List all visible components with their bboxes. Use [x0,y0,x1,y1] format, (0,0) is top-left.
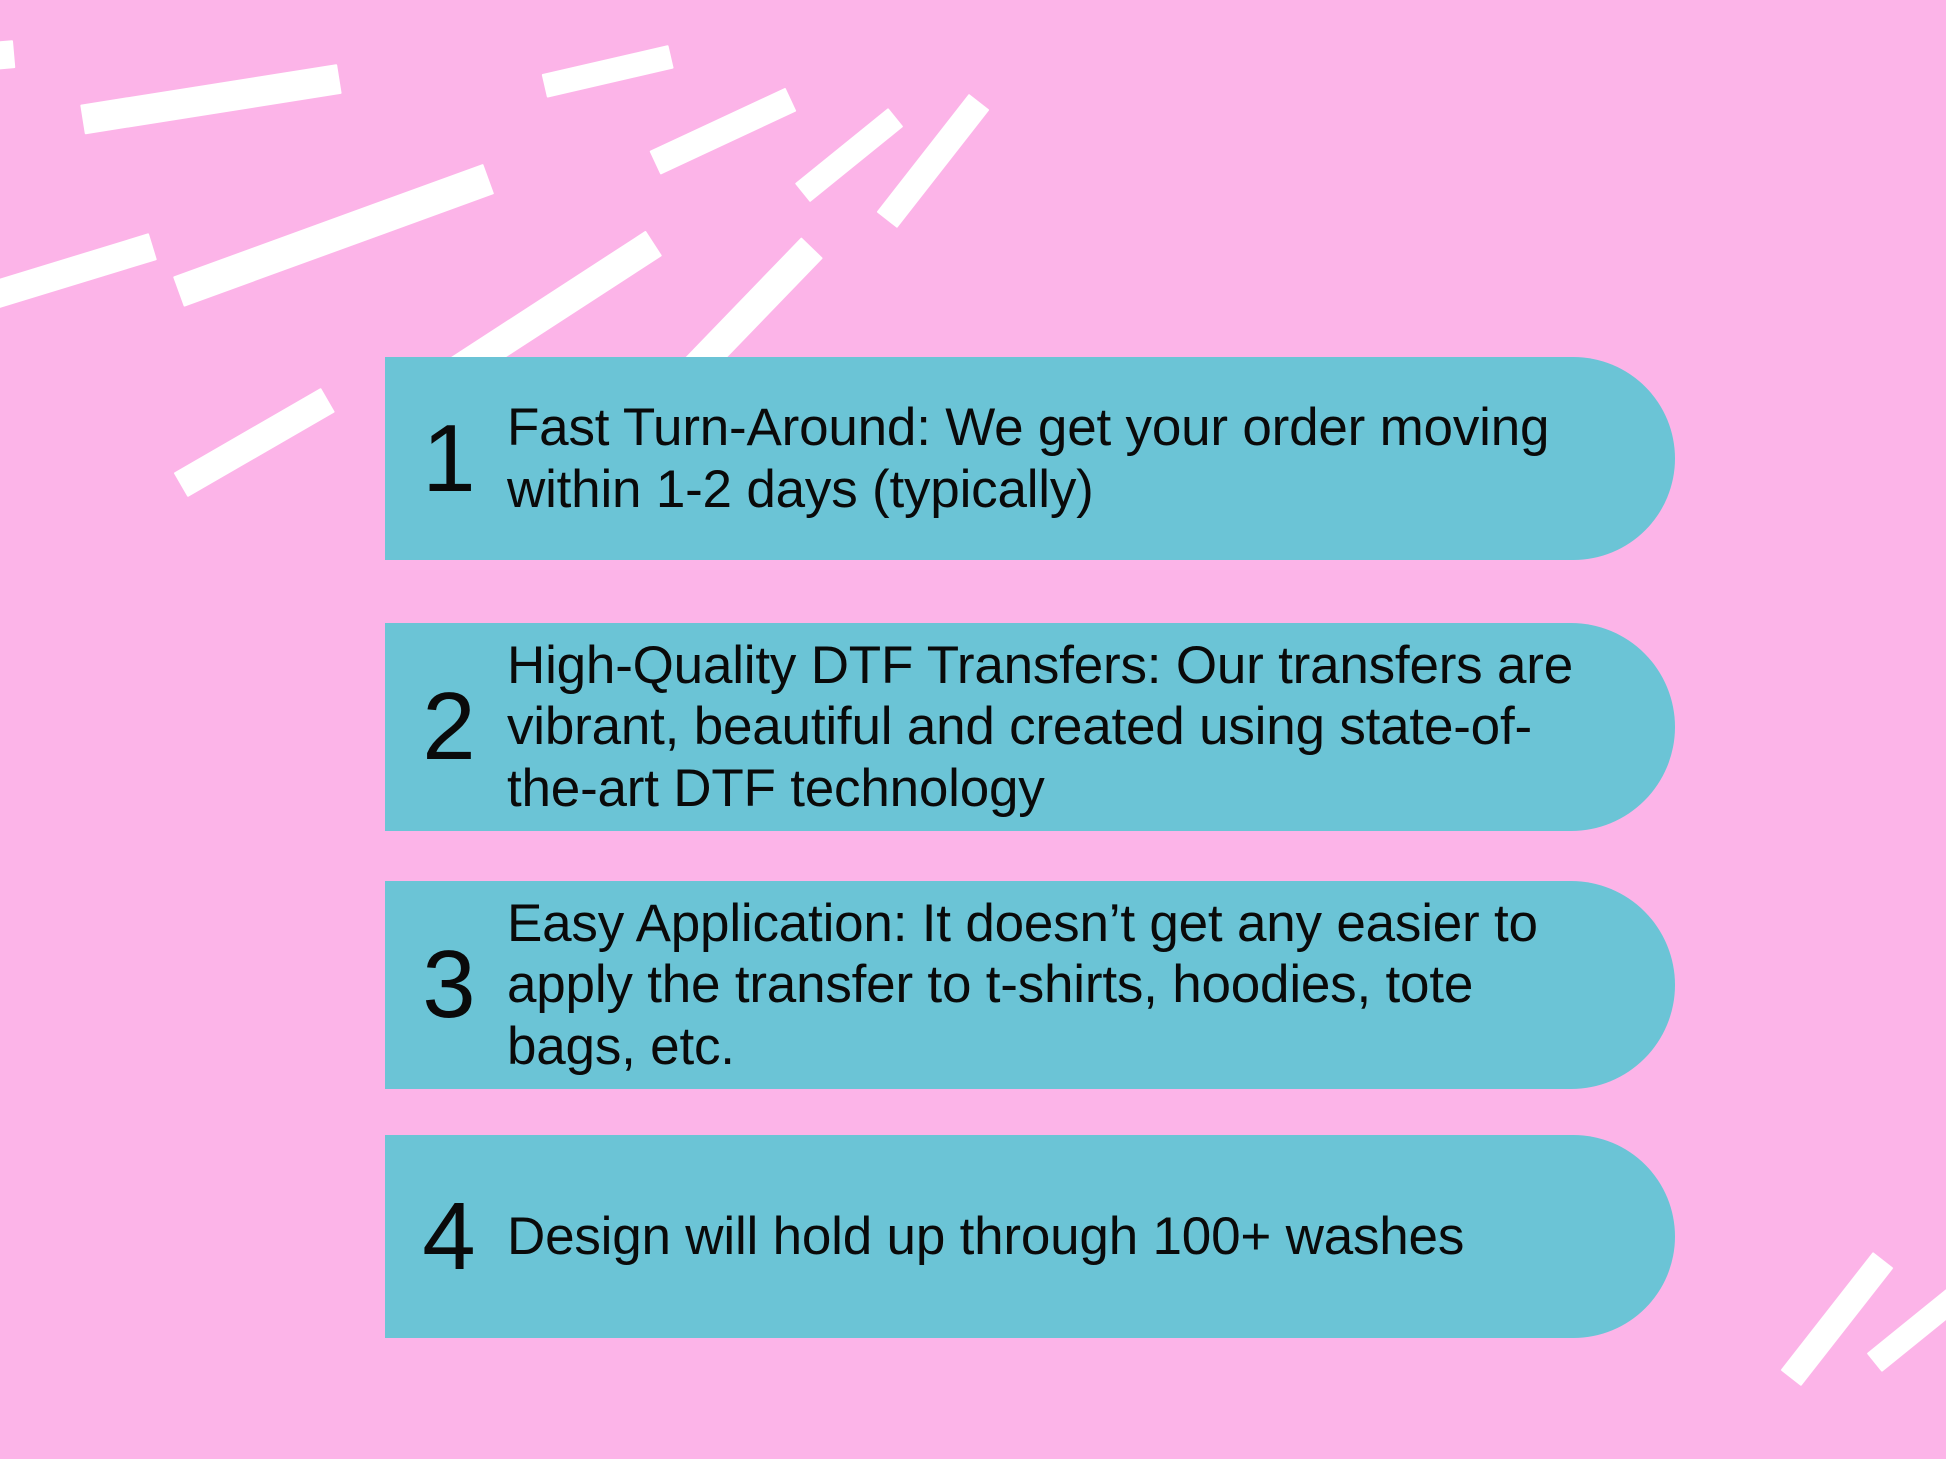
decorative-dash [174,388,335,497]
decorative-dash [0,233,157,318]
feature-card: 4 Design will hold up through 100+ washe… [385,1135,1675,1338]
feature-text: Easy Application: It doesn’t get any eas… [507,893,1615,1077]
poster-canvas: WHY US 1 Fast Turn-Around: We get your o… [0,0,1946,1459]
feature-text: Fast Turn-Around: We get your order movi… [507,397,1615,520]
feature-number: 3 [413,937,485,1033]
feature-number: 1 [413,411,485,507]
feature-card: 1 Fast Turn-Around: We get your order mo… [385,357,1675,560]
feature-card: 3 Easy Application: It doesn’t get any e… [385,881,1675,1089]
page-title: WHY US [0,42,1946,242]
feature-text: Design will hold up through 100+ washes [507,1206,1615,1267]
feature-card: 2 High-Quality DTF Transfers: Our transf… [385,623,1675,831]
title-metrics: WHY US [571,42,1375,238]
feature-text: High-Quality DTF Transfers: Our transfer… [507,635,1615,819]
decorative-dash [1781,1252,1894,1386]
feature-number: 2 [413,679,485,775]
decorative-dash [1867,1278,1946,1372]
feature-number: 4 [413,1189,485,1285]
